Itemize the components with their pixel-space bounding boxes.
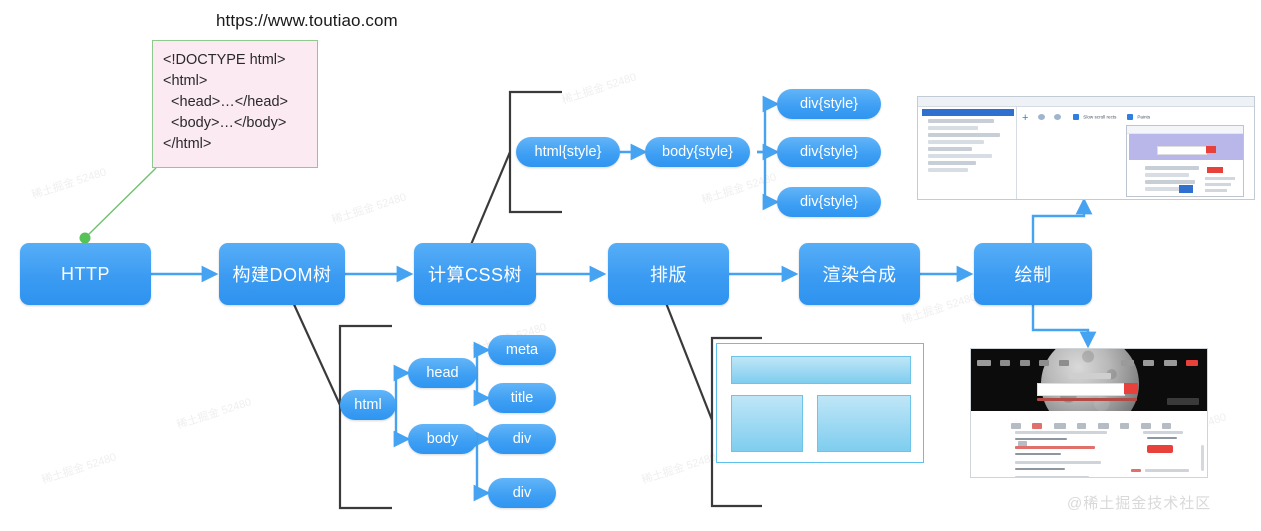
- preview-search-bar: [1157, 146, 1207, 155]
- pipeline-step-label: 计算CSS树: [428, 261, 522, 287]
- pan-icon[interactable]: [1038, 114, 1045, 120]
- diagram-canvas: 稀土掘金 52480 稀土掘金 52480 稀土掘金 52480 稀土掘金 52…: [0, 0, 1261, 531]
- pipeline-step-compute-css[interactable]: 计算CSS树: [414, 243, 536, 305]
- feed-meta: [1015, 453, 1061, 455]
- feed-item[interactable]: [1015, 461, 1101, 464]
- wireframe-left-block: [731, 395, 803, 452]
- preview-line: [1145, 166, 1199, 170]
- devtools-titlebar: [918, 97, 1254, 107]
- devtools-layer-item[interactable]: [928, 126, 978, 130]
- slow-scroll-rects-checkbox[interactable]: [1073, 114, 1079, 120]
- page-sidebar[interactable]: [1131, 431, 1201, 478]
- devtools-toolbar[interactable]: + Slow scroll rects Paints: [1022, 108, 1242, 120]
- sidebar-line: [1137, 477, 1189, 478]
- preview-line: [1145, 173, 1189, 177]
- dom-node-label: html: [354, 397, 381, 413]
- devtools-layer-list[interactable]: [920, 107, 1017, 199]
- sidebar-cta-button[interactable]: [1147, 445, 1173, 453]
- code-line: <body>…</body>: [163, 113, 307, 134]
- preview-line: [1145, 187, 1183, 191]
- preview-sidebar-line: [1205, 189, 1227, 192]
- preview-topbar: [1127, 126, 1244, 134]
- page-hero-subline: [1037, 398, 1137, 401]
- dom-node-title[interactable]: title: [488, 383, 556, 413]
- code-line: <!DOCTYPE html>: [163, 50, 307, 71]
- page-topnav-right[interactable]: [1121, 354, 1201, 359]
- pipeline-step-label: 构建DOM树: [233, 261, 332, 287]
- page-hero-title: [1069, 373, 1111, 379]
- pipeline-step-label: 排版: [650, 261, 687, 287]
- code-line: <head>…</head>: [163, 92, 307, 113]
- dom-node-body[interactable]: body: [408, 424, 477, 454]
- css-node-label: div{style}: [800, 96, 858, 112]
- tile-watermark: 稀土掘金 52480: [174, 393, 253, 432]
- preview-sidebar-line: [1205, 183, 1231, 186]
- dom-node-label: div: [513, 431, 532, 447]
- preview-cta: [1207, 167, 1223, 173]
- css-node-label: div{style}: [800, 194, 858, 210]
- css-node-div[interactable]: div{style}: [777, 89, 881, 119]
- dom-node-div[interactable]: div: [488, 478, 556, 508]
- dom-node-label: body: [427, 431, 458, 447]
- pipeline-step-layout[interactable]: 排版: [608, 243, 729, 305]
- feed-meta: [1015, 468, 1065, 470]
- dom-node-label: div: [513, 485, 532, 501]
- devtools-page-preview: [1126, 125, 1244, 197]
- pipeline-step-paint[interactable]: 绘制: [974, 243, 1092, 305]
- css-node-body[interactable]: body{style}: [645, 137, 750, 167]
- paints-label: Paints: [1137, 114, 1150, 119]
- devtools-layer-item[interactable]: [928, 119, 994, 123]
- feed-meta: [1015, 438, 1067, 440]
- feed-item[interactable]: [1015, 431, 1107, 434]
- code-line: </html>: [163, 134, 307, 155]
- add-icon[interactable]: +: [1022, 112, 1028, 124]
- dom-node-html[interactable]: html: [340, 390, 396, 420]
- tile-watermark: 稀土掘金 52480: [559, 68, 638, 107]
- css-node-div[interactable]: div{style}: [777, 187, 881, 217]
- paints-checkbox[interactable]: [1127, 114, 1133, 120]
- pipeline-step-build-dom[interactable]: 构建DOM树: [219, 243, 345, 305]
- preview-search-button: [1206, 146, 1216, 153]
- css-node-div[interactable]: div{style}: [777, 137, 881, 167]
- css-node-label: div{style}: [800, 144, 858, 160]
- sidebar-line: [1143, 431, 1183, 434]
- layout-wireframe: [716, 343, 924, 463]
- dom-node-label: head: [426, 365, 458, 381]
- page-feed-list[interactable]: [1015, 431, 1125, 478]
- preview-hero: [1129, 134, 1243, 160]
- devtools-layers-screenshot[interactable]: + Slow scroll rects Paints: [917, 96, 1255, 200]
- wireframe-right-block: [817, 395, 911, 452]
- sidebar-hot-tag: [1131, 469, 1141, 472]
- page-hero: [971, 349, 1207, 411]
- devtools-layer-item[interactable]: [928, 147, 972, 151]
- preview-sidebar-line: [1205, 177, 1235, 180]
- dom-node-meta[interactable]: meta: [488, 335, 556, 365]
- html-source-box: <!DOCTYPE html> <html> <head>…</head> <b…: [152, 40, 318, 168]
- sidebar-line: [1145, 469, 1189, 472]
- feed-item[interactable]: [1015, 476, 1089, 478]
- css-node-html[interactable]: html{style}: [516, 137, 620, 167]
- page-search-input[interactable]: [1037, 383, 1125, 396]
- devtools-layer-item[interactable]: [928, 133, 1000, 137]
- page-category-nav[interactable]: [1011, 417, 1181, 423]
- tile-watermark: 稀土掘金 52480: [699, 168, 778, 207]
- page-url: https://www.toutiao.com: [216, 11, 398, 31]
- code-line: <html>: [163, 71, 307, 92]
- wireframe-header-block: [731, 356, 911, 384]
- sidebar-line: [1147, 437, 1177, 439]
- dom-node-head[interactable]: head: [408, 358, 477, 388]
- page-hero-badge: [1167, 398, 1199, 405]
- pipeline-step-label: 渲染合成: [823, 261, 897, 287]
- preview-line: [1145, 180, 1195, 184]
- preview-highlight-box: [1179, 185, 1193, 193]
- devtools-layer-item[interactable]: [928, 140, 984, 144]
- rendered-page-screenshot[interactable]: [970, 348, 1208, 478]
- tile-watermark: 稀土掘金 52480: [329, 188, 408, 227]
- feed-item[interactable]: [1015, 446, 1095, 449]
- community-watermark: @稀土掘金技术社区: [1067, 492, 1211, 513]
- pipeline-step-label: HTTP: [61, 264, 110, 285]
- css-node-label: html{style}: [535, 144, 602, 160]
- pipeline-step-label: 绘制: [1015, 261, 1052, 287]
- pipeline-step-composite[interactable]: 渲染合成: [799, 243, 920, 305]
- tile-watermark: 稀土掘金 52480: [39, 448, 118, 487]
- dom-node-div[interactable]: div: [488, 424, 556, 454]
- page-topnav[interactable]: [977, 354, 1097, 359]
- devtools-layer-item[interactable]: [928, 161, 976, 165]
- tile-watermark: 稀土掘金 52480: [639, 448, 718, 487]
- slow-scroll-rects-label: Slow scroll rects: [1083, 114, 1116, 119]
- devtools-layer-item[interactable]: [928, 154, 992, 158]
- page-scrollbar[interactable]: [1201, 445, 1204, 471]
- pipeline-step-http[interactable]: HTTP: [20, 243, 151, 305]
- page-search-button[interactable]: [1124, 383, 1138, 394]
- dom-node-label: title: [511, 390, 534, 406]
- tile-watermark: 稀土掘金 52480: [29, 163, 108, 202]
- devtools-layer-selected[interactable]: [922, 109, 1014, 116]
- dom-node-label: meta: [506, 342, 538, 358]
- preview-content: [1129, 163, 1243, 196]
- devtools-layer-item[interactable]: [928, 168, 968, 172]
- zoom-icon[interactable]: [1054, 114, 1061, 120]
- css-node-label: body{style}: [662, 144, 733, 160]
